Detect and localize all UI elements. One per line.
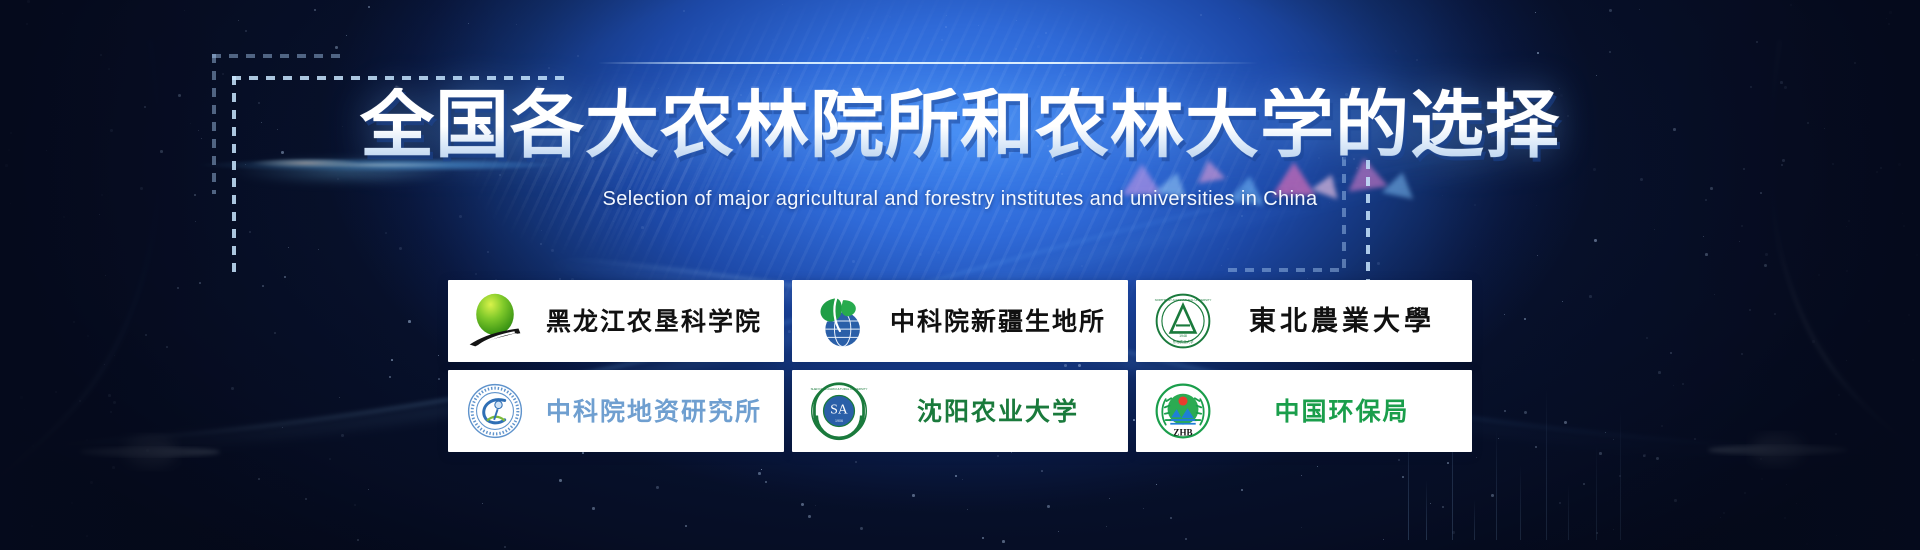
banner-content: 全国各大农林院所和农林大学的选择 Selection of major agri… xyxy=(0,0,1920,550)
svg-text:SA: SA xyxy=(830,402,848,417)
svg-text:ZHB: ZHB xyxy=(1173,428,1192,438)
page-title: 全国各大农林院所和农林大学的选择 xyxy=(0,88,1920,162)
blue-circle-seal-icon xyxy=(462,378,528,444)
logo-label: 黑龙江农垦科学院 xyxy=(538,309,770,334)
logo-label: 東北農業大學 xyxy=(1226,308,1458,335)
partner-logo-grid: 黑龙江农垦科学院 中科院新疆生地所 NORTHEAST AGRICULTURAL… xyxy=(448,280,1472,452)
green-sphere-road-icon xyxy=(462,288,528,354)
green-blue-shield-sa-icon: SA 1906 SHENYANG AGRICULTURAL UNIVERSITY xyxy=(806,378,872,444)
logo-card[interactable]: ZHB 中国环保局 xyxy=(1136,370,1472,452)
logo-label: 中科院地资研究所 xyxy=(538,399,770,424)
logo-card[interactable]: 黑龙江农垦科学院 xyxy=(448,280,784,362)
svg-text:东北农业大学: 东北农业大学 xyxy=(1173,339,1194,344)
logo-card[interactable]: 中科院新疆生地所 xyxy=(792,280,1128,362)
page-subtitle: Selection of major agricultural and fore… xyxy=(0,188,1920,211)
logo-card[interactable]: 中科院地资研究所 xyxy=(448,370,784,452)
logo-label: 沈阳农业大学 xyxy=(882,399,1114,424)
zhb-wreath-emblem-icon: ZHB xyxy=(1150,378,1216,444)
logo-label: 中国环保局 xyxy=(1226,399,1458,424)
green-circle-seal-a-icon: NORTHEAST AGRICULTURAL UNIVERSITY 东北农业大学… xyxy=(1150,288,1216,354)
logo-card[interactable]: NORTHEAST AGRICULTURAL UNIVERSITY 东北农业大学… xyxy=(1136,280,1472,362)
logo-card[interactable]: SA 1906 SHENYANG AGRICULTURAL UNIVERSITY… xyxy=(792,370,1128,452)
svg-text:SHENYANG AGRICULTURAL UNIVERSI: SHENYANG AGRICULTURAL UNIVERSITY xyxy=(811,387,868,391)
svg-text:1906: 1906 xyxy=(835,419,843,423)
svg-text:NORTHEAST AGRICULTURAL UNIVERS: NORTHEAST AGRICULTURAL UNIVERSITY xyxy=(1155,298,1212,302)
green-leaf-blue-globe-icon xyxy=(806,288,872,354)
promo-banner: 全国各大农林院所和农林大学的选择 Selection of major agri… xyxy=(0,0,1920,550)
svg-text:1948: 1948 xyxy=(1179,334,1187,338)
logo-label: 中科院新疆生地所 xyxy=(882,309,1114,334)
